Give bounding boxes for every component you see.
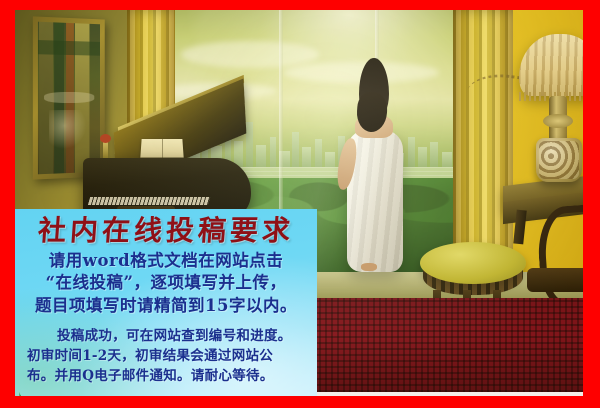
poster-root: 社内在线投稿要求 请用word格式文档在网站点击 “在线投稿”，逐项填写并上传，…	[0, 0, 600, 408]
framed-artwork	[33, 16, 105, 179]
notice-detail-line: 初审时间1-2天，初审结果会通过网站公	[27, 346, 305, 366]
flower-vase	[103, 140, 108, 160]
notice-body-line: 请用word格式文档在网站点击	[25, 250, 307, 273]
notice-detail-line: 布。并用Q电子邮件通知。请耐心等待。	[27, 366, 305, 386]
artwork-canvas	[38, 22, 100, 175]
lamp-base	[536, 138, 582, 182]
chair-seat	[527, 268, 583, 292]
notice-body-line: “在线投稿”，逐项填写并上传，	[25, 272, 307, 295]
ottoman-cushion	[420, 242, 526, 284]
notice-detail-line: 投稿成功，可在网站查到编号和进度。	[27, 326, 305, 346]
notice-body: 请用word格式文档在网站点击 “在线投稿”，逐项填写并上传， 题目项填写时请精…	[23, 250, 309, 318]
woman-in-white-dress	[341, 58, 411, 273]
notice-detail: 投稿成功，可在网站查到编号和进度。 初审时间1-2天，初审结果会通过网站公 布。…	[23, 326, 309, 387]
notice-title: 社内在线投稿要求	[22, 214, 310, 248]
sheet-music	[140, 139, 183, 158]
lamp-stem	[549, 96, 567, 144]
notice-body-line: 题目项填写时请精简到15字以内。	[25, 295, 307, 318]
curtain-right	[453, 10, 513, 282]
piano-keys	[88, 197, 210, 205]
notice-panel: 社内在线投稿要求 请用word格式文档在网站点击 “在线投稿”，逐项填写并上传，…	[15, 209, 317, 396]
foot	[361, 263, 377, 271]
